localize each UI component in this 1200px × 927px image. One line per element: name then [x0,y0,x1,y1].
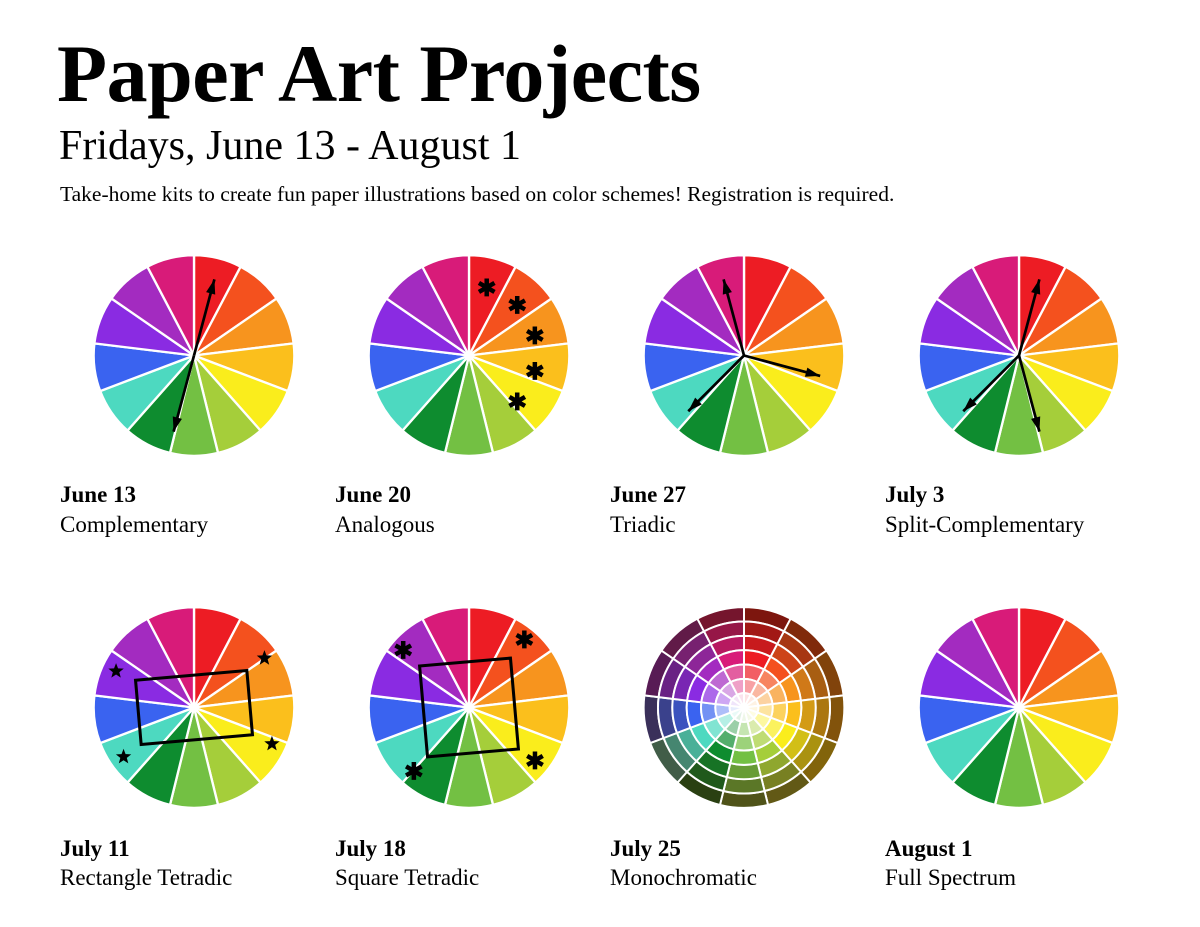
project-scheme: Full Spectrum [885,863,1157,893]
asterisk-icon: ✱ [525,359,545,385]
color-wheel-triadic [629,248,859,463]
wheel-ring-segment [730,749,757,765]
project-caption: July 11 Rectangle Tetradic [60,835,332,894]
asterisk-icon: ✱ [507,294,527,320]
project-card-square-tetradic: ✱✱✱✱ July 18 Square Tetradic [332,600,607,894]
project-card-full-spectrum: August 1 Full Spectrum [882,600,1157,894]
asterisk-icon: ✱ [525,324,545,350]
project-date: August 1 [885,835,1157,864]
color-wheel-square-tetradic: ✱✱✱✱ [354,600,584,815]
wheel-segments [919,607,1120,808]
project-card-analogous: ✱✱✱✱✱ June 20 Analogous [332,248,607,540]
wheel-rings [644,607,845,808]
project-date: July 3 [885,481,1157,510]
wheel-svg [904,248,1134,463]
project-caption: June 27 Triadic [610,481,882,540]
project-scheme: Split-Complementary [885,510,1157,540]
wheel-svg: ✱✱✱✱ [354,600,584,815]
asterisk-icon: ✱ [477,276,497,302]
color-wheel-split-complementary [904,248,1134,463]
project-caption: July 3 Split-Complementary [885,481,1157,540]
project-date: June 20 [335,481,607,510]
wheel-svg [629,248,859,463]
color-wheel-rectangle-tetradic [79,600,309,815]
asterisk-icon: ✱ [404,759,424,785]
asterisk-icon: ✱ [507,390,527,416]
project-scheme: Rectangle Tetradic [60,863,332,893]
project-scheme: Complementary [60,510,332,540]
project-card-complementary: June 13 Complementary [57,248,332,540]
project-scheme: Monochromatic [610,863,882,893]
project-card-split-complementary: July 3 Split-Complementary [882,248,1157,540]
project-date: June 27 [610,481,882,510]
asterisk-icon: ✱ [515,628,535,654]
color-wheel-full-spectrum [904,600,1134,815]
wheel-svg: ✱✱✱✱✱ [354,248,584,463]
project-date: July 25 [610,835,882,864]
page-description: Take-home kits to create fun paper illus… [60,182,1157,208]
project-caption: June 20 Analogous [335,481,607,540]
project-card-monochromatic: July 25 Monochromatic [607,600,882,894]
poster: Paper Art Projects Fridays, June 13 - Au… [0,0,1200,927]
project-date: July 11 [60,835,332,864]
project-date: July 18 [335,835,607,864]
project-card-rectangle-tetradic: July 11 Rectangle Tetradic [57,600,332,894]
project-scheme: Square Tetradic [335,863,607,893]
wheel-svg [79,600,309,815]
wheel-segments [369,607,570,808]
project-card-triadic: June 27 Triadic [607,248,882,540]
page-title: Paper Art Projects [57,34,1157,114]
page-subtitle: Fridays, June 13 - August 1 [59,124,1157,168]
wheel-segments [94,607,295,808]
project-caption: July 25 Monochromatic [610,835,882,894]
color-wheel-complementary [79,248,309,463]
project-caption: August 1 Full Spectrum [885,835,1157,894]
wheel-segments [369,255,570,456]
project-scheme: Analogous [335,510,607,540]
asterisk-icon: ✱ [525,749,545,775]
wheel-svg [79,248,309,463]
asterisk-icon: ✱ [393,638,413,664]
project-date: June 13 [60,481,332,510]
color-wheel-monochromatic [629,600,859,815]
project-caption: June 13 Complementary [60,481,332,540]
project-caption: July 18 Square Tetradic [335,835,607,894]
color-wheel-analogous: ✱✱✱✱✱ [354,248,584,463]
wheel-svg [904,600,1134,815]
poster-header: Paper Art Projects Fridays, June 13 - Au… [57,34,1157,208]
wheel-svg [629,600,859,815]
project-scheme: Triadic [610,510,882,540]
project-grid: June 13 Complementary ✱✱✱✱✱ June 20 Anal… [57,248,1147,893]
